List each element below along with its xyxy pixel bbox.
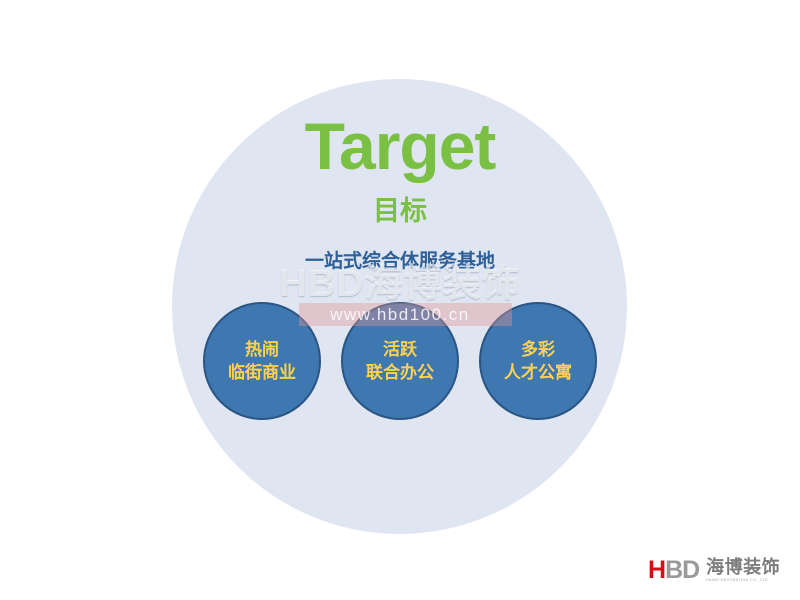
node-label-line1: 活跃	[383, 338, 417, 361]
logo-letter-bd: BD	[665, 556, 699, 584]
page-title-cn: 目标	[0, 194, 800, 228]
logo-name-cn: 海博装饰	[706, 557, 780, 577]
logo-letter-h: H	[648, 556, 665, 584]
logo-name-en: HAIBO DECORATION CO., LTD.	[706, 577, 776, 583]
node-label-line2: 临街商业	[228, 361, 296, 384]
node-label-line2: 人才公寓	[504, 361, 572, 384]
logo-mark: HBD	[648, 556, 699, 584]
corporate-logo: HBD 海博装饰 HAIBO DECORATION CO., LTD.	[648, 556, 780, 584]
node-label-line1: 多彩	[521, 338, 555, 361]
slide-canvas: Target 目标 一站式综合体服务基地 热闹 临街商业 活跃 联合办公 多彩 …	[0, 0, 800, 600]
watermark-url-band	[299, 303, 512, 326]
node-label-line2: 联合办公	[366, 361, 434, 384]
logo-text-block: 海博装饰 HAIBO DECORATION CO., LTD.	[706, 556, 780, 583]
tagline: 一站式综合体服务基地	[0, 249, 800, 275]
page-title-en: Target	[0, 110, 800, 182]
node-label-line1: 热闹	[245, 338, 279, 361]
